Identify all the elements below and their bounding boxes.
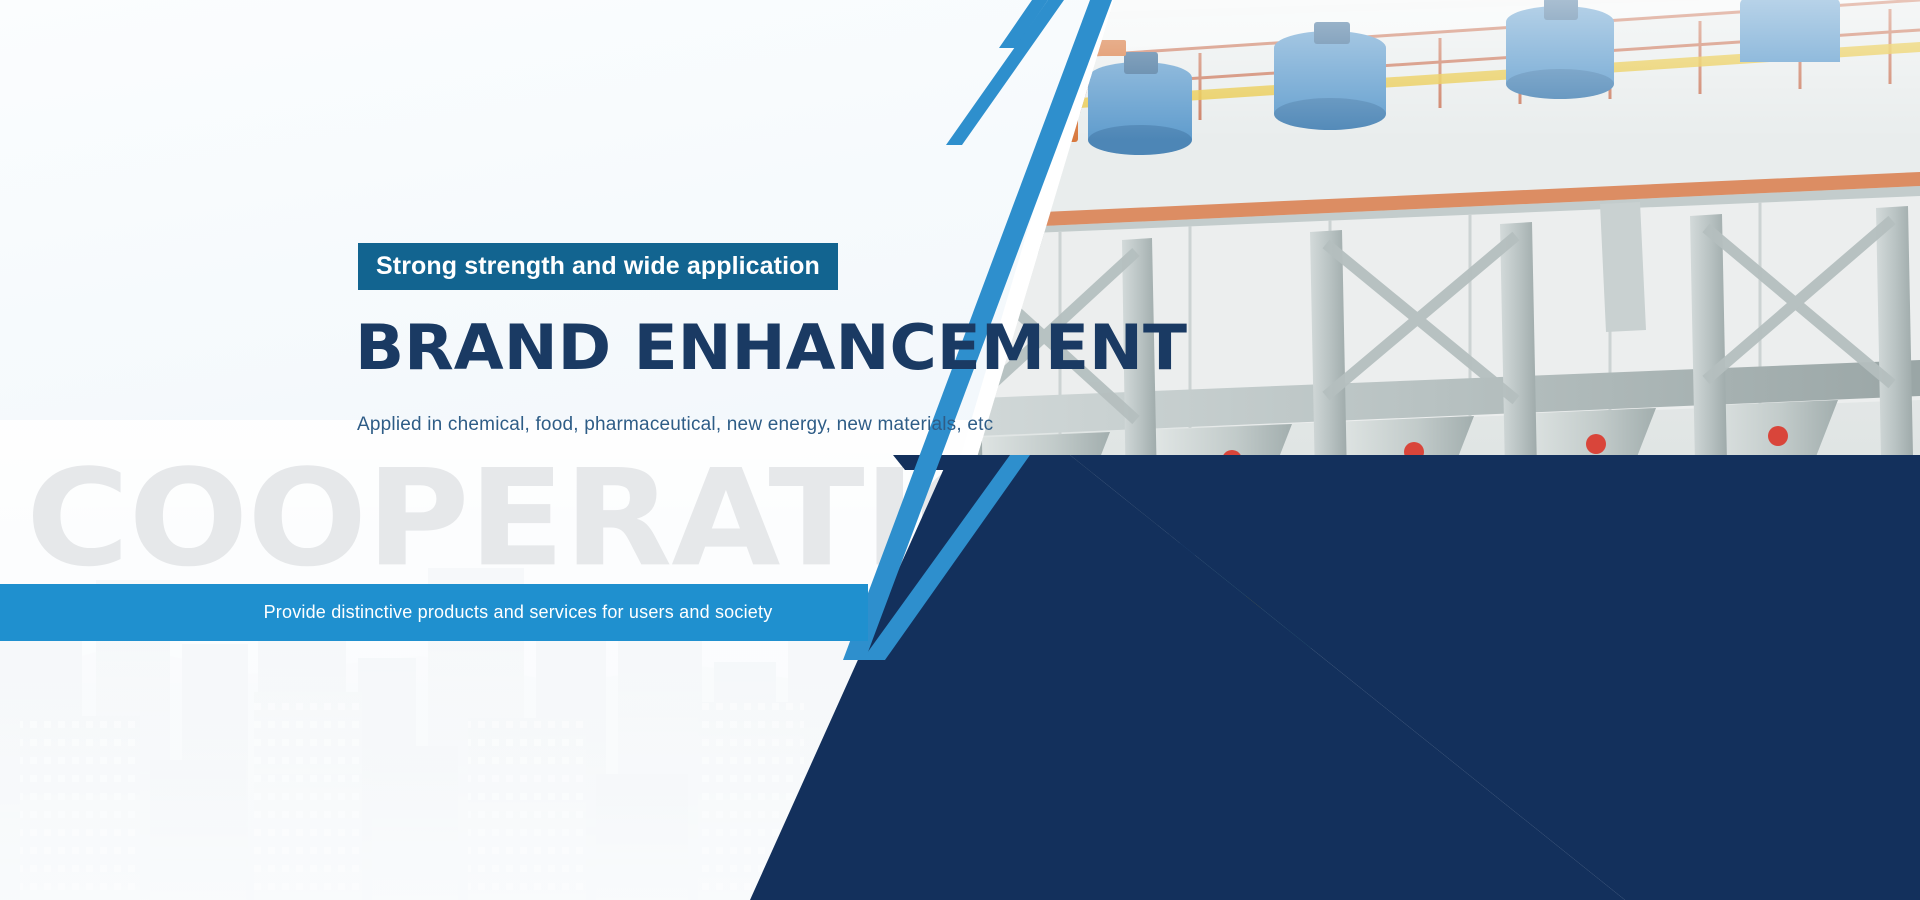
footer-message-bar: Provide distinctive products and service… [0, 584, 868, 641]
footer-message-text: Provide distinctive products and service… [264, 602, 773, 623]
page-subtitle: Applied in chemical, food, pharmaceutica… [357, 414, 993, 436]
tagline-badge: Strong strength and wide application [358, 243, 838, 290]
hero-banner: COOPERATION [0, 0, 1920, 900]
page-title: BRAND ENHANCEMENT [355, 317, 1187, 379]
tagline-badge-label: Strong strength and wide application [376, 252, 820, 281]
hero-photo-panel [0, 0, 1920, 900]
